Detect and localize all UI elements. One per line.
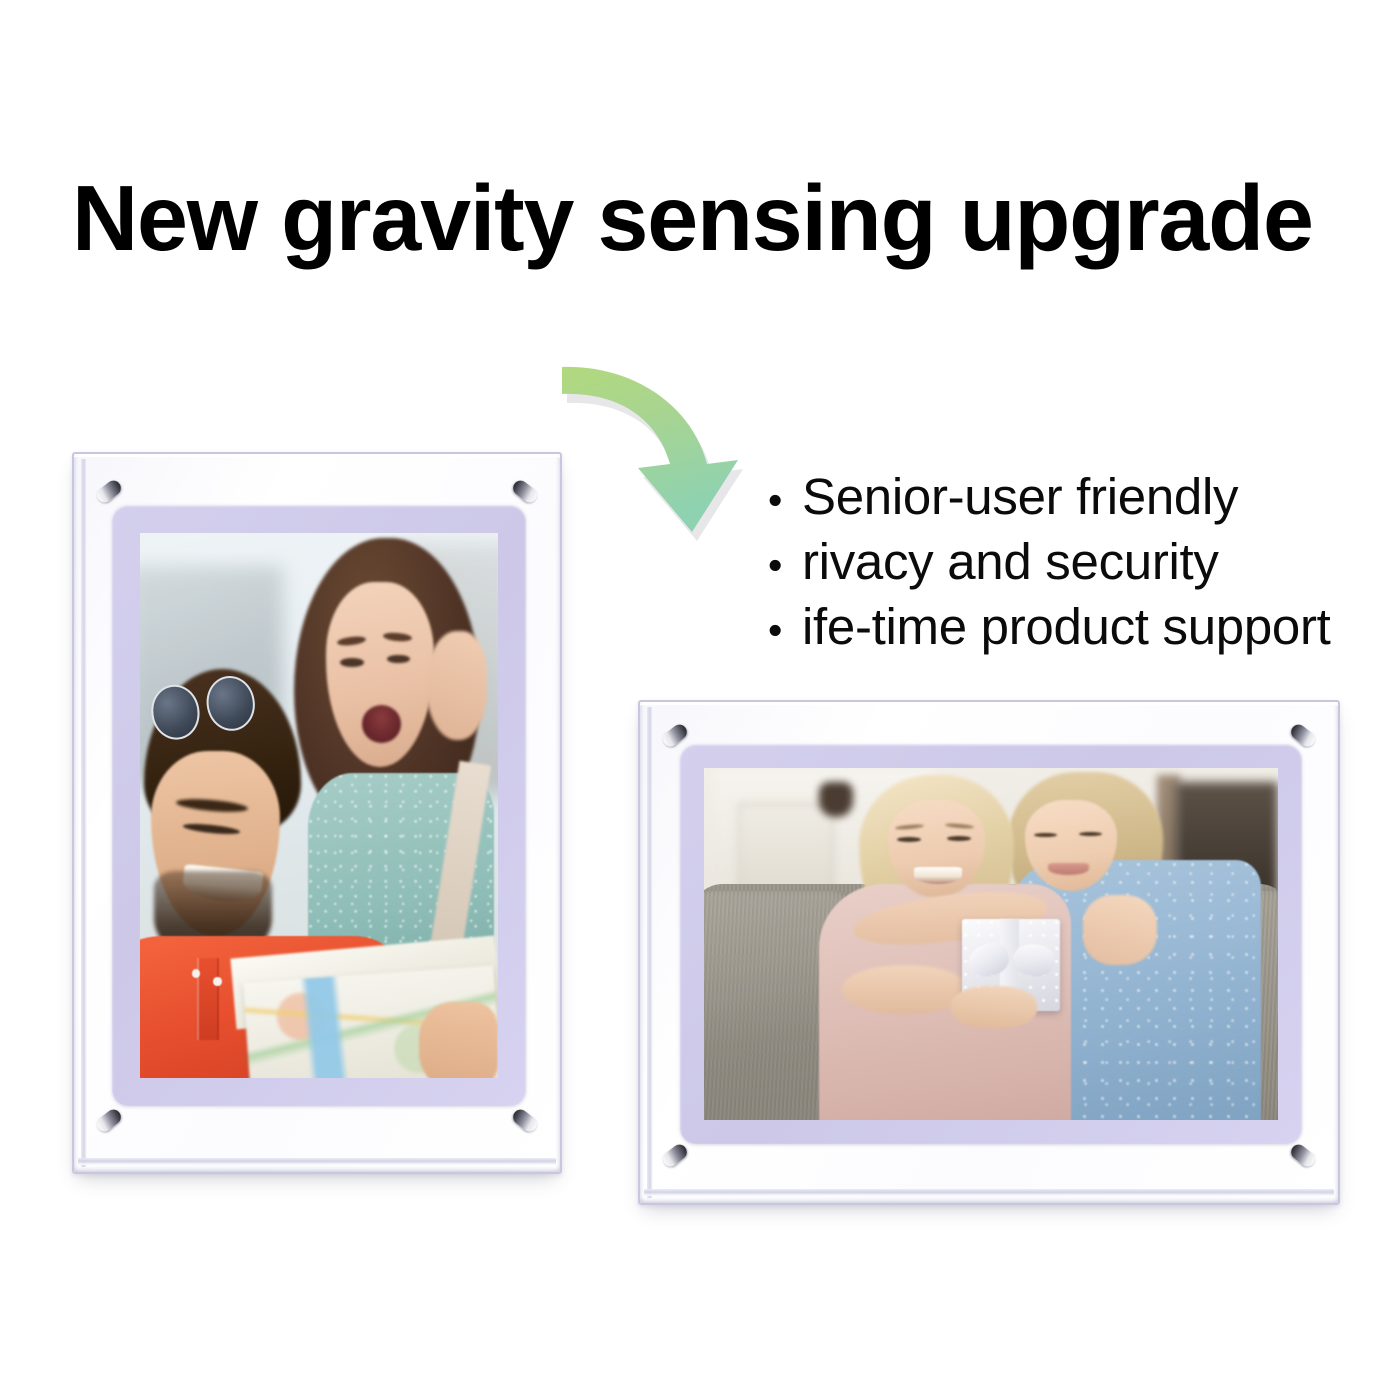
acrylic-photo-frame-portrait xyxy=(72,452,562,1174)
standoff-screw-icon xyxy=(510,478,540,506)
bullet-icon: • xyxy=(768,599,802,661)
list-item: • rivacy and security xyxy=(768,531,1368,596)
standoff-screw-icon xyxy=(1288,1142,1318,1170)
list-item-label: ife-time product support xyxy=(802,596,1331,658)
curved-down-arrow xyxy=(556,356,796,586)
frame-bezel xyxy=(680,744,1302,1144)
standoff-screw-icon xyxy=(660,722,690,750)
curved-down-arrow-graphic xyxy=(556,356,796,586)
acrylic-left-edge xyxy=(81,459,87,1167)
feature-list: • Senior-user friendly • rivacy and secu… xyxy=(768,466,1368,661)
photo-mother-and-daughter xyxy=(704,768,1278,1120)
acrylic-bottom-edge xyxy=(78,1158,556,1165)
standoff-screw-icon xyxy=(94,1107,124,1135)
standoff-screw-icon xyxy=(660,1142,690,1170)
list-item: • Senior-user friendly xyxy=(768,466,1368,531)
list-item: • ife-time product support xyxy=(768,596,1368,661)
standoff-screw-icon xyxy=(510,1107,540,1135)
bullet-icon: • xyxy=(768,534,802,596)
acrylic-photo-frame-landscape xyxy=(638,700,1340,1205)
list-item-label: Senior-user friendly xyxy=(802,466,1238,528)
acrylic-left-edge xyxy=(647,707,653,1198)
frame-bezel xyxy=(112,505,526,1106)
bullet-icon: • xyxy=(768,469,802,531)
standoff-screw-icon xyxy=(94,478,124,506)
photo-couple-with-map xyxy=(140,533,498,1078)
acrylic-bottom-edge xyxy=(644,1189,1334,1196)
page-title: New gravity sensing upgrade xyxy=(72,172,1333,265)
list-item-label: rivacy and security xyxy=(802,531,1219,593)
